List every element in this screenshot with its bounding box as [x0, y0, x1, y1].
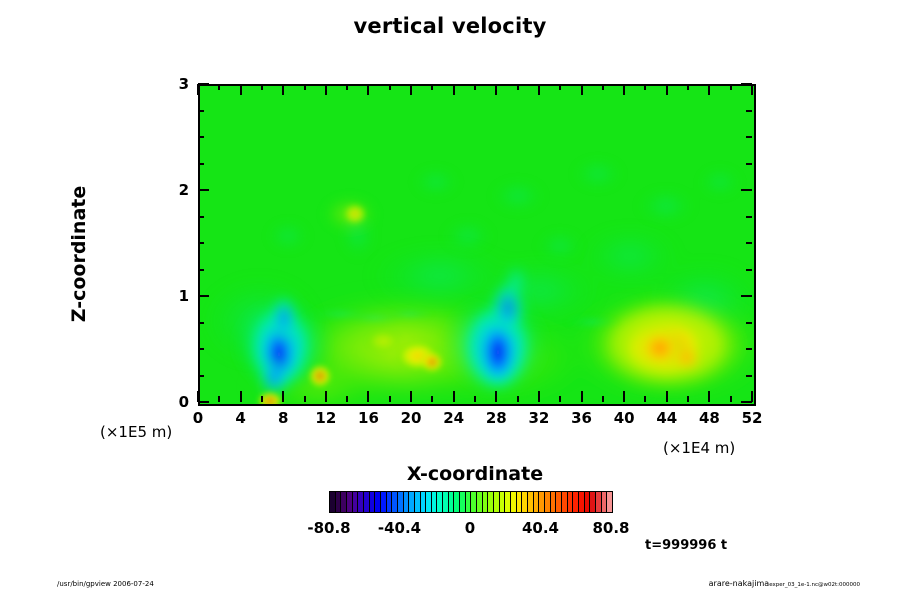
y-tick-minor-right	[746, 348, 752, 350]
colorbar-cell	[607, 492, 612, 512]
x-tick-label: 28	[476, 409, 516, 427]
colorbar	[329, 491, 613, 513]
x-tick-minor-top	[517, 84, 519, 90]
x-tick-minor-top	[602, 84, 604, 90]
x-tick-major-top	[410, 84, 412, 95]
x-axis-title: X-coordinate	[275, 463, 675, 485]
x-tick-minor	[644, 396, 646, 402]
x-tick-major	[240, 391, 242, 402]
x-tick-label: 40	[604, 409, 644, 427]
x-tick-major	[410, 391, 412, 402]
x-tick-major-top	[453, 84, 455, 95]
y-axis-unit: (×1E5 m)	[100, 423, 172, 441]
x-tick-major-top	[282, 84, 284, 95]
y-tick-minor-right	[746, 322, 752, 324]
footer-dataset-user: arare-nakajima	[709, 579, 770, 588]
x-tick-minor	[346, 396, 348, 402]
y-tick-minor-right	[746, 216, 752, 218]
y-tick-minor	[198, 163, 204, 165]
x-tick-major	[325, 391, 327, 402]
x-tick-label: 4	[221, 409, 261, 427]
x-tick-major-top	[666, 84, 668, 95]
x-tick-minor	[261, 396, 263, 402]
x-tick-minor	[517, 396, 519, 402]
colorbar-tick-label: 80.8	[576, 519, 646, 537]
x-tick-major	[581, 391, 583, 402]
x-tick-minor	[431, 396, 433, 402]
x-tick-minor	[559, 396, 561, 402]
colorbar-tick-label: 40.4	[506, 519, 576, 537]
y-tick-minor	[198, 375, 204, 377]
x-tick-minor-top	[474, 84, 476, 90]
x-tick-minor	[602, 396, 604, 402]
x-tick-minor-top	[389, 84, 391, 90]
y-tick-minor-right	[746, 163, 752, 165]
plot-frame	[198, 84, 756, 406]
x-tick-label: 16	[348, 409, 388, 427]
y-tick-label: 1	[163, 287, 189, 305]
x-tick-label: 20	[391, 409, 431, 427]
x-tick-major-top	[751, 84, 753, 95]
footer-dataset-file: exper_03_1e-1.nc@w02t:000000	[769, 582, 860, 588]
y-tick-minor	[198, 269, 204, 271]
colorbar-tick-label: 0	[435, 519, 505, 537]
x-tick-major-top	[708, 84, 710, 95]
x-tick-major-top	[623, 84, 625, 95]
x-tick-label: 36	[562, 409, 602, 427]
x-tick-minor	[389, 396, 391, 402]
x-tick-major	[708, 391, 710, 402]
colorbar-tick-label: -80.8	[294, 519, 364, 537]
x-axis-unit: (×1E4 m)	[663, 439, 735, 457]
y-tick-minor	[198, 322, 204, 324]
y-tick-minor	[198, 110, 204, 112]
y-tick-major-right	[741, 401, 752, 403]
x-tick-major	[453, 391, 455, 402]
x-tick-minor	[218, 396, 220, 402]
x-tick-major-top	[325, 84, 327, 95]
x-tick-major	[623, 391, 625, 402]
x-tick-minor-top	[687, 84, 689, 90]
x-tick-minor	[730, 396, 732, 402]
time-label: t=999996 t	[645, 538, 727, 553]
x-tick-major	[282, 391, 284, 402]
y-tick-minor-right	[746, 110, 752, 112]
page-title: vertical velocity	[0, 14, 900, 38]
x-tick-label: 32	[519, 409, 559, 427]
x-tick-major-top	[538, 84, 540, 95]
x-tick-major-top	[367, 84, 369, 95]
x-tick-minor-top	[261, 84, 263, 90]
y-tick-minor	[198, 242, 204, 244]
y-tick-minor	[198, 136, 204, 138]
x-tick-minor-top	[304, 84, 306, 90]
footer-command: /usr/bin/gpview 2006-07-24	[57, 580, 154, 588]
x-tick-minor	[304, 396, 306, 402]
y-tick-label: 0	[163, 393, 189, 411]
x-tick-label: 0	[178, 409, 218, 427]
x-tick-minor-top	[559, 84, 561, 90]
y-tick-major-right	[741, 189, 752, 191]
y-tick-minor-right	[746, 269, 752, 271]
x-tick-major-top	[581, 84, 583, 95]
x-tick-minor-top	[730, 84, 732, 90]
y-tick-major	[198, 401, 209, 403]
x-tick-minor-top	[346, 84, 348, 90]
y-tick-label: 3	[163, 75, 189, 93]
y-tick-minor-right	[746, 375, 752, 377]
y-tick-major-right	[741, 295, 752, 297]
x-tick-major-top	[240, 84, 242, 95]
colorbar-tick-label: -40.4	[365, 519, 435, 537]
heatmap-field	[200, 86, 754, 404]
x-tick-major	[495, 391, 497, 402]
x-tick-major	[367, 391, 369, 402]
x-tick-label: 48	[689, 409, 729, 427]
x-tick-major	[538, 391, 540, 402]
y-tick-minor	[198, 348, 204, 350]
x-tick-minor-top	[644, 84, 646, 90]
y-tick-major	[198, 189, 209, 191]
x-tick-label: 44	[647, 409, 687, 427]
y-tick-major-right	[741, 83, 752, 85]
y-tick-minor	[198, 216, 204, 218]
x-tick-major-top	[197, 84, 199, 95]
y-tick-major	[198, 295, 209, 297]
x-tick-minor	[687, 396, 689, 402]
x-tick-label: 24	[434, 409, 474, 427]
x-tick-minor	[474, 396, 476, 402]
x-tick-minor-top	[431, 84, 433, 90]
x-tick-major	[666, 391, 668, 402]
x-tick-major-top	[495, 84, 497, 95]
footer-dataset: arare-nakajimaexper_03_1e-1.nc@w02t:0000…	[709, 579, 860, 588]
y-tick-major	[198, 83, 209, 85]
y-tick-label: 2	[163, 181, 189, 199]
y-tick-minor-right	[746, 242, 752, 244]
x-tick-minor-top	[218, 84, 220, 90]
y-axis-title: Z-coordinate	[68, 164, 90, 344]
x-tick-label: 12	[306, 409, 346, 427]
y-tick-minor-right	[746, 136, 752, 138]
x-tick-label: 8	[263, 409, 303, 427]
x-tick-label: 52	[732, 409, 772, 427]
